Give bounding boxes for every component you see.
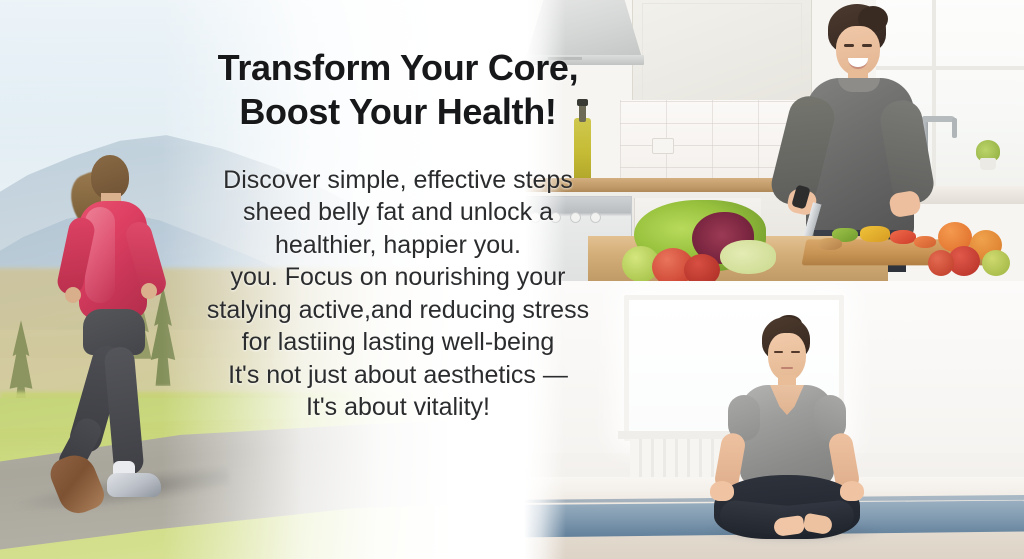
- left-closed-eye: [774, 351, 783, 353]
- mouth: [781, 367, 793, 369]
- wall-outlet: [652, 138, 674, 154]
- body-line-8: It's about vitality!: [168, 391, 628, 424]
- headline-line-1: Transform Your Core,: [218, 47, 579, 88]
- right-eye: [862, 44, 872, 47]
- body-line-6: for lastiing lasting well-being: [168, 326, 628, 359]
- chopped-vegetable: [914, 236, 936, 248]
- faucet-spout: [952, 118, 957, 138]
- chopped-vegetable: [860, 226, 890, 242]
- page-title: Transform Your Core, Boost Your Health!: [168, 46, 628, 134]
- pale-lettuce-heart: [720, 240, 776, 274]
- health-promo-poster: Transform Your Core, Boost Your Health! …: [0, 0, 1024, 559]
- face: [768, 333, 806, 381]
- red-apple: [684, 254, 720, 281]
- chopped-vegetable: [818, 238, 842, 250]
- body-line-4: you. Focus on nourishing your: [168, 261, 628, 294]
- left-hand-mudra: [710, 481, 734, 501]
- headline-line-2: Boost Your Health!: [239, 91, 556, 132]
- chopped-vegetable: [890, 230, 916, 244]
- body-line-2: sheed belly fat and unlock a: [168, 196, 628, 229]
- left-eye: [844, 44, 854, 47]
- body-line-7: It's not just about aesthetics —: [168, 359, 628, 392]
- copy-block: Transform Your Core, Boost Your Health! …: [168, 46, 628, 424]
- plant-pot: [980, 158, 996, 170]
- body-line-1: Discover simple, effective steps: [168, 164, 628, 197]
- meditating-figure: [712, 317, 862, 533]
- green-fruit: [982, 250, 1010, 276]
- tomato: [928, 250, 954, 276]
- body-line-5: stalying active,and reducing stress: [168, 294, 628, 327]
- body-copy: Discover simple, effective steps sheed b…: [168, 164, 628, 424]
- body-line-3: healthier, happier you.: [168, 229, 628, 262]
- right-hand-mudra: [840, 481, 864, 501]
- right-hand: [888, 190, 922, 219]
- right-closed-eye: [791, 351, 800, 353]
